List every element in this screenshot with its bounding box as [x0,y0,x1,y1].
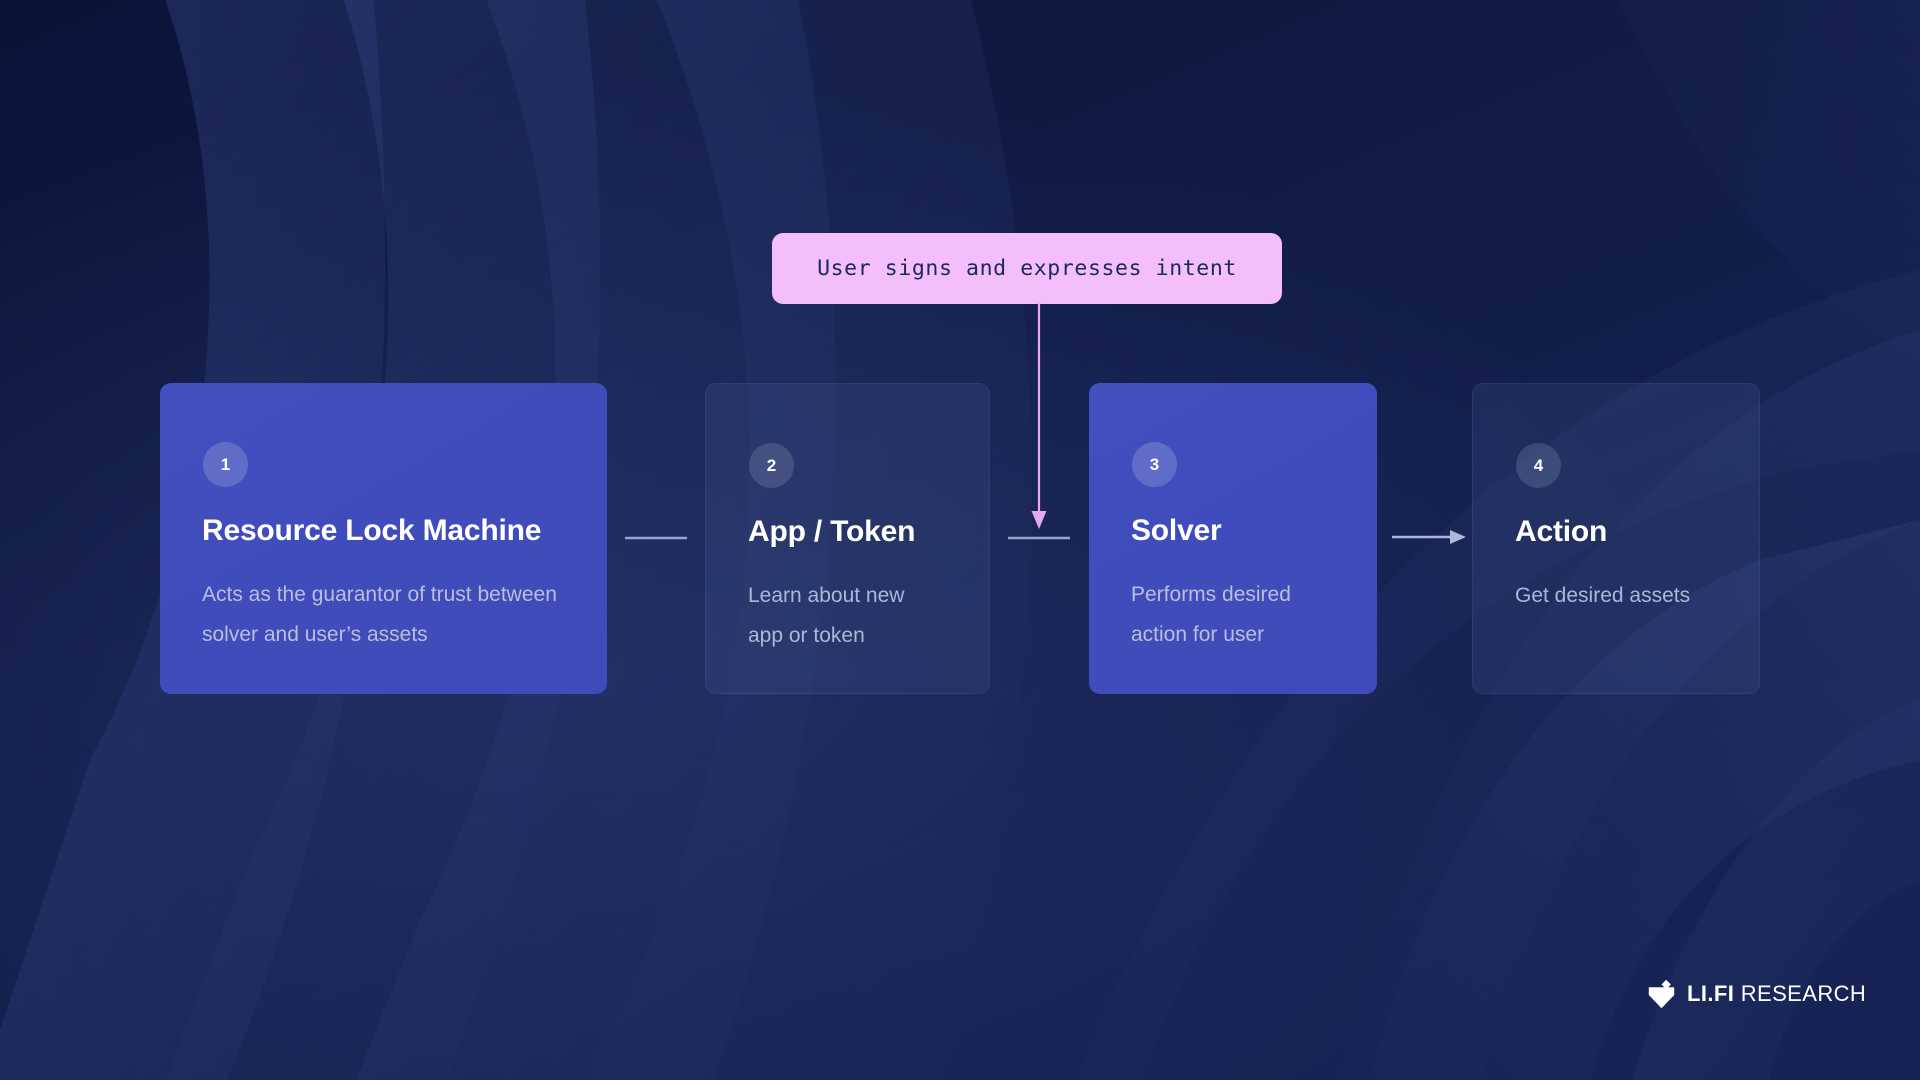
connector-card3-card4-arrow [1392,527,1466,547]
card-title: Action [1515,515,1607,549]
card-resource-lock-machine[interactable]: 1 Resource Lock Machine Acts as the guar… [160,383,607,694]
card-description: Acts as the guarantor of trust between s… [202,575,562,655]
intent-label-text: User signs and expresses intent [817,256,1237,281]
card-description: Learn about new app or token [748,576,938,656]
card-solver[interactable]: 3 Solver Performs desired action for use… [1089,383,1377,694]
logo-wordmark: LI.FI RESEARCH [1687,981,1866,1007]
intent-arrow-down [1028,303,1050,533]
logo-word: RESEARCH [1741,981,1866,1006]
card-number-badge: 2 [749,443,794,488]
card-number-badge: 4 [1516,443,1561,488]
card-description: Performs desired action for user [1131,575,1331,655]
card-number-badge: 3 [1132,442,1177,487]
card-app-token[interactable]: 2 App / Token Learn about new app or tok… [705,383,990,694]
connector-card2-card3 [1008,533,1070,543]
lifi-research-logo: LI.FI RESEARCH [1648,979,1866,1009]
logo-brand: LI.FI [1687,981,1734,1006]
card-action[interactable]: 4 Action Get desired assets [1472,383,1760,694]
lifi-chevron-icon [1648,979,1675,1009]
card-number-badge: 1 [203,442,248,487]
intent-label: User signs and expresses intent [772,233,1282,304]
card-description: Get desired assets [1515,576,1695,616]
card-title: Solver [1131,514,1222,548]
connector-card1-card2 [625,533,687,543]
card-title: App / Token [748,515,915,549]
card-title: Resource Lock Machine [202,514,541,548]
